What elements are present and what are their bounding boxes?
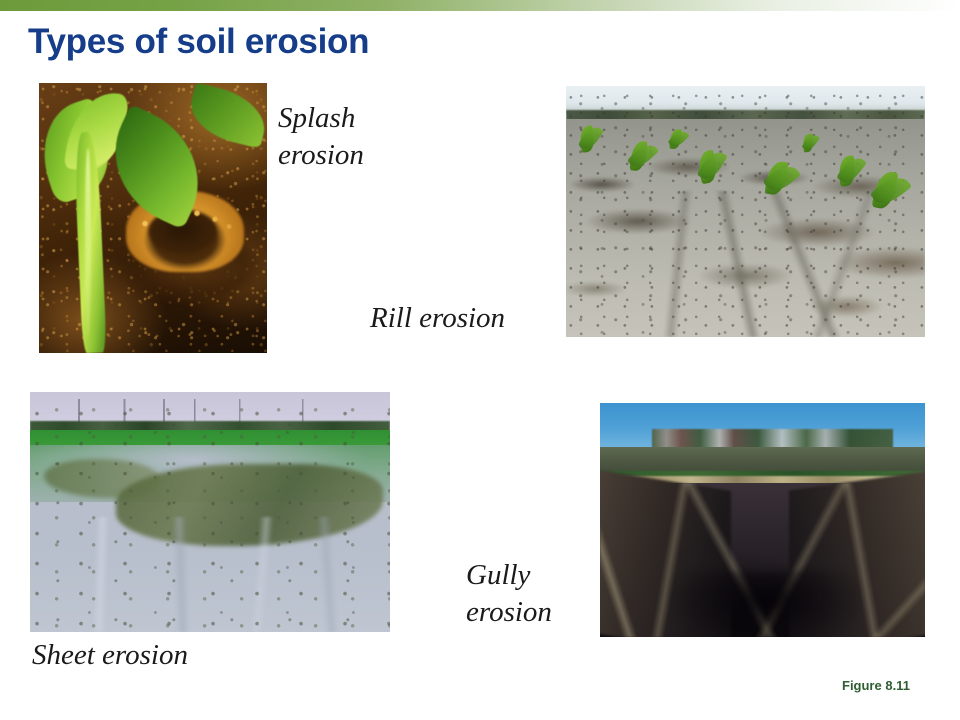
corn-seedling bbox=[838, 156, 857, 187]
corn-seedling bbox=[802, 133, 814, 152]
figure-credit: Figure 8.11 bbox=[842, 678, 910, 693]
caption-rill-erosion: Rill erosion bbox=[370, 300, 505, 337]
corn-seedling bbox=[579, 125, 596, 153]
slide-canvas: Types of soil erosion Splash erosion Ril… bbox=[0, 0, 960, 720]
photo-gully-erosion bbox=[600, 403, 925, 637]
accent-bar bbox=[0, 0, 960, 11]
soil-speckle-texture bbox=[566, 86, 925, 337]
gully-floor-shadow bbox=[672, 571, 861, 637]
photo-splash-erosion bbox=[39, 83, 267, 353]
caption-gully-erosion: Gully erosion bbox=[466, 557, 552, 631]
corn-seedling bbox=[669, 128, 681, 149]
field-debris bbox=[30, 392, 390, 632]
page-title: Types of soil erosion bbox=[28, 22, 369, 62]
corn-seedling bbox=[629, 141, 647, 172]
photo-rill-erosion bbox=[566, 86, 925, 337]
caption-sheet-erosion: Sheet erosion bbox=[32, 637, 188, 674]
caption-splash-erosion: Splash erosion bbox=[278, 100, 364, 174]
photo-sheet-erosion bbox=[30, 392, 390, 632]
